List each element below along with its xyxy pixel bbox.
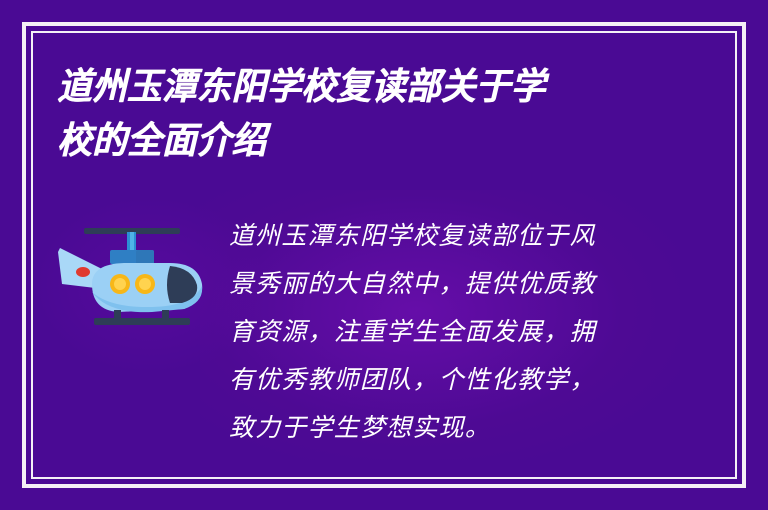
helicopter-window-front-core	[114, 278, 126, 290]
body-line-1: 道州玉潭东阳学校复读部位于风	[229, 212, 649, 260]
body-line-4: 有优秀教师团队，个性化教学，	[229, 356, 649, 404]
body-line-2: 景秀丽的大自然中，提供优质教	[229, 260, 649, 308]
helicopter-window-rear-core	[139, 278, 151, 290]
page-title-line-2: 校的全面介绍	[57, 114, 615, 168]
body-line-5: 致力于学生梦想实现。	[229, 404, 649, 452]
helicopter-engine-housing-light	[136, 250, 154, 264]
poster-canvas: 道州玉潭东阳学校复读部关于学 校的全面介绍	[0, 0, 768, 510]
body-paragraph: 道州玉潭东阳学校复读部位于风 景秀丽的大自然中，提供优质教 育资源，注重学生全面…	[229, 212, 649, 452]
page-title: 道州玉潭东阳学校复读部关于学 校的全面介绍	[57, 60, 615, 168]
body-line-3: 育资源，注重学生全面发展，拥	[229, 308, 649, 356]
helicopter-landing-skid	[94, 318, 190, 325]
helicopter-tail-light	[76, 267, 90, 277]
page-title-line-1: 道州玉潭东阳学校复读部关于学	[57, 60, 615, 114]
helicopter-illustration	[52, 222, 212, 332]
